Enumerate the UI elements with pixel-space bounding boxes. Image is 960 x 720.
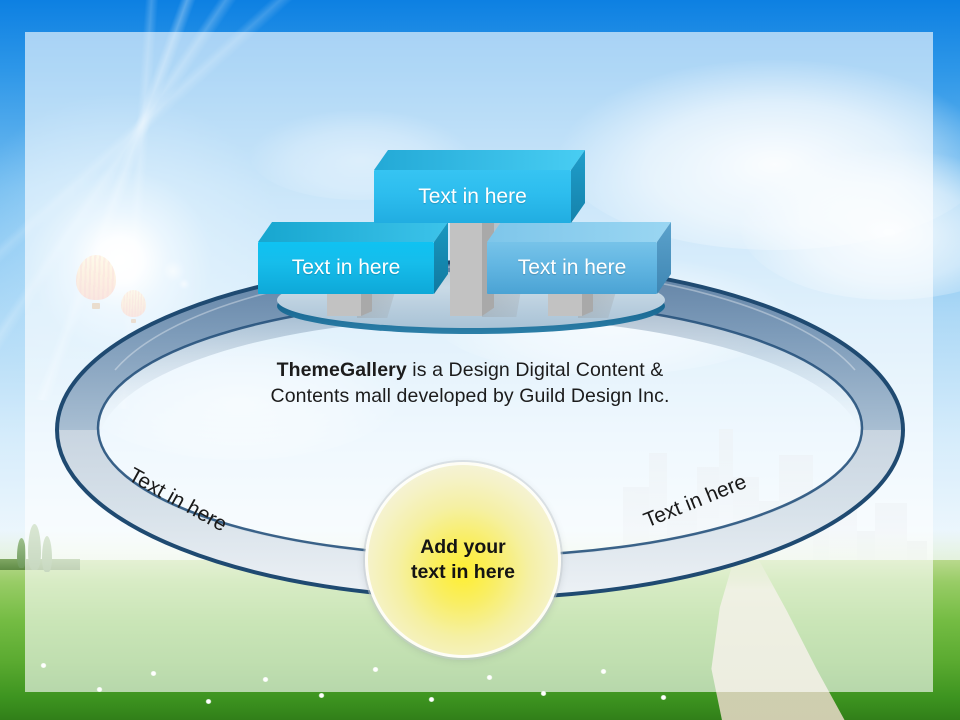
center-circle-line2: text in here xyxy=(411,561,515,583)
description-bold-lead: ThemeGallery xyxy=(277,359,407,381)
description-line2: Contents mall developed by Guild Design … xyxy=(271,385,670,407)
block-right[interactable]: Text in here xyxy=(487,222,671,294)
daisy xyxy=(205,699,212,704)
description-text[interactable]: ThemeGallery is a Design Digital Content… xyxy=(180,357,760,409)
daisy xyxy=(428,697,435,702)
block-top[interactable]: Text in here xyxy=(374,150,585,223)
center-circle[interactable]: Add your text in here xyxy=(365,462,561,658)
block-right-label: Text in here xyxy=(487,242,657,294)
block-top-label: Text in here xyxy=(374,170,571,223)
block-left-label: Text in here xyxy=(258,242,434,294)
center-circle-line1: Add your xyxy=(420,536,506,558)
daisy xyxy=(318,693,325,698)
block-left-top xyxy=(258,222,448,242)
slide-canvas: Text in here Text in here ThemeGallery i… xyxy=(0,0,960,720)
description-line1-rest: is a Design Digital Content & xyxy=(407,359,664,381)
daisy xyxy=(660,695,667,700)
block-left[interactable]: Text in here xyxy=(258,222,448,294)
center-circle-text: Add your text in here xyxy=(411,535,515,585)
block-right-top xyxy=(487,222,671,242)
block-top-top xyxy=(374,150,585,170)
